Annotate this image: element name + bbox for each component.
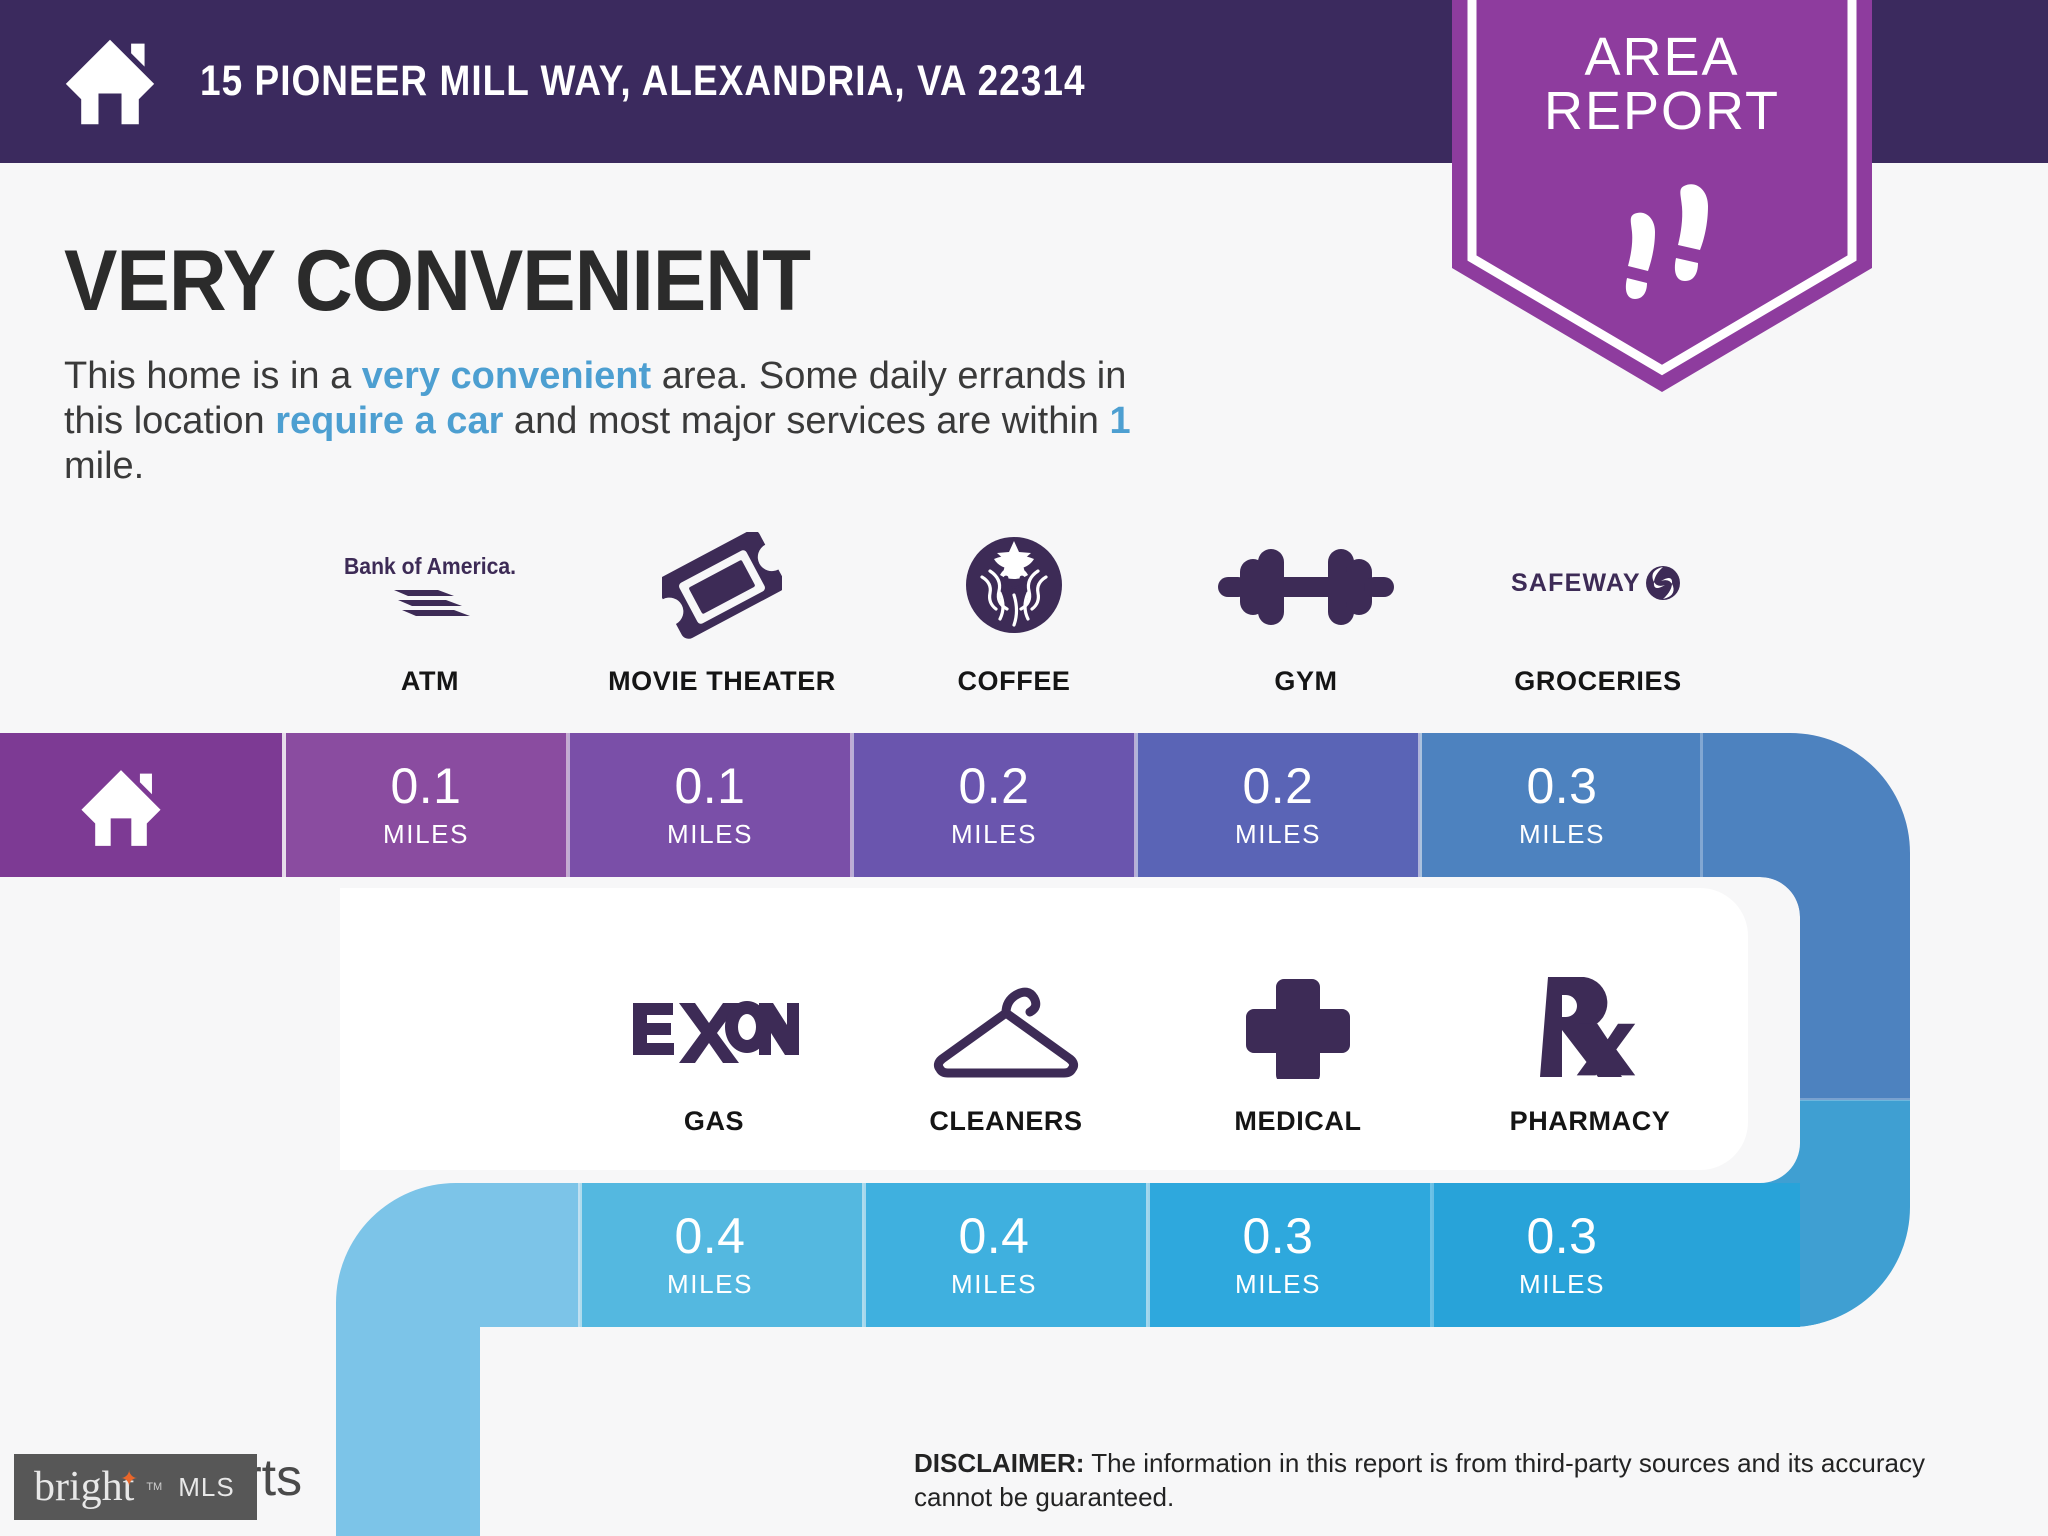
- safeway-logo-icon: SAFEWAY: [1503, 528, 1693, 646]
- distance-unit: MILES: [667, 819, 753, 850]
- amenity-label: GAS: [684, 1106, 744, 1137]
- distance-value: 0.4: [958, 1211, 1029, 1261]
- amenity-coffee: COFFEE: [868, 528, 1160, 697]
- amenity-cleaners: CLEANERS: [860, 968, 1152, 1137]
- distance-unit: MILES: [383, 819, 469, 850]
- amenity-label: GYM: [1274, 666, 1337, 697]
- distance-unit: MILES: [951, 819, 1037, 850]
- distance-pharmacy: 0.3 MILES: [1420, 1183, 1704, 1327]
- distance-value: 0.3: [1526, 1211, 1597, 1261]
- distance-value: 0.4: [674, 1211, 745, 1261]
- distance-unit: MILES: [1519, 819, 1605, 850]
- distance-value: 0.3: [1526, 761, 1597, 811]
- badge-line-2: REPORT: [1452, 84, 1872, 138]
- amenity-groceries: SAFEWAY GROCERIES: [1452, 528, 1744, 697]
- distance-value: 0.2: [958, 761, 1029, 811]
- amenity-movie-theater: MOVIE THEATER: [576, 528, 868, 697]
- badge-line-1: AREA: [1452, 30, 1872, 84]
- amenity-label: MOVIE THEATER: [608, 666, 836, 697]
- disclaimer: DISCLAIMER: The information in this repo…: [914, 1447, 1994, 1515]
- home-marker: [78, 765, 164, 851]
- amenity-row-2: GAS CLEANERS MEDICAL PHARMACY: [568, 968, 1736, 1137]
- distance-value: 0.2: [1242, 761, 1313, 811]
- distance-groceries: 0.3 MILES: [1420, 733, 1704, 877]
- distance-medical: 0.3 MILES: [1136, 1183, 1420, 1327]
- bright-mls-logo: bright✦ TM MLS: [14, 1454, 257, 1520]
- amenity-label: ATM: [401, 666, 459, 697]
- movie-ticket-icon: [662, 528, 782, 646]
- amenity-atm: Bank of America. ATM: [284, 528, 576, 697]
- amenity-label: CLEANERS: [929, 1106, 1082, 1137]
- home-icon: [78, 765, 164, 851]
- logo-mls-text: MLS: [178, 1472, 234, 1503]
- distance-unit: MILES: [667, 1269, 753, 1300]
- svg-text:Bank of America.: Bank of America.: [344, 553, 516, 579]
- svg-text:SAFEWAY: SAFEWAY: [1511, 569, 1641, 597]
- starbucks-logo-icon: [960, 528, 1068, 646]
- amenity-label: MEDICAL: [1234, 1106, 1361, 1137]
- distance-gas: 0.4 MILES: [568, 1183, 852, 1327]
- distance-atm: 0.1 MILES: [284, 733, 568, 877]
- logo-tm: TM: [146, 1481, 162, 1493]
- amenity-row-1: Bank of America. ATM MOVIE THEATER: [284, 528, 1744, 697]
- medical-cross-icon: [1246, 968, 1350, 1086]
- exxon-logo-icon: [629, 968, 799, 1086]
- distance-value: 0.1: [390, 761, 461, 811]
- coat-hanger-icon: [928, 968, 1084, 1086]
- amenity-label: COFFEE: [957, 666, 1070, 697]
- amenity-label: GROCERIES: [1514, 666, 1681, 697]
- distance-value: 0.3: [1242, 1211, 1313, 1261]
- amenity-gym: GYM: [1160, 528, 1452, 697]
- dumbbell-icon: [1218, 528, 1394, 646]
- area-report-badge: AREA REPORT: [1452, 0, 1872, 395]
- distance-value: 0.1: [674, 761, 745, 811]
- amenity-medical: MEDICAL: [1152, 968, 1444, 1137]
- distance-coffee: 0.2 MILES: [852, 733, 1136, 877]
- distance-unit: MILES: [1235, 1269, 1321, 1300]
- rx-icon: [1538, 968, 1642, 1086]
- distance-unit: MILES: [1235, 819, 1321, 850]
- distance-gym: 0.2 MILES: [1136, 733, 1420, 877]
- logo-bright-text: bright✦: [34, 1466, 134, 1508]
- bank-of-america-logo-icon: Bank of America.: [342, 528, 518, 646]
- distance-unit: MILES: [1519, 1269, 1605, 1300]
- distance-movie-theater: 0.1 MILES: [568, 733, 852, 877]
- disclaimer-label: DISCLAIMER:: [914, 1448, 1084, 1478]
- amenity-label: PHARMACY: [1510, 1106, 1671, 1137]
- amenity-gas: GAS: [568, 968, 860, 1137]
- amenity-pharmacy: PHARMACY: [1444, 968, 1736, 1137]
- distance-unit: MILES: [951, 1269, 1037, 1300]
- badge-title: AREA REPORT: [1452, 30, 1872, 138]
- distance-cleaners: 0.4 MILES: [852, 1183, 1136, 1327]
- sparkle-icon: ✦: [120, 1468, 138, 1490]
